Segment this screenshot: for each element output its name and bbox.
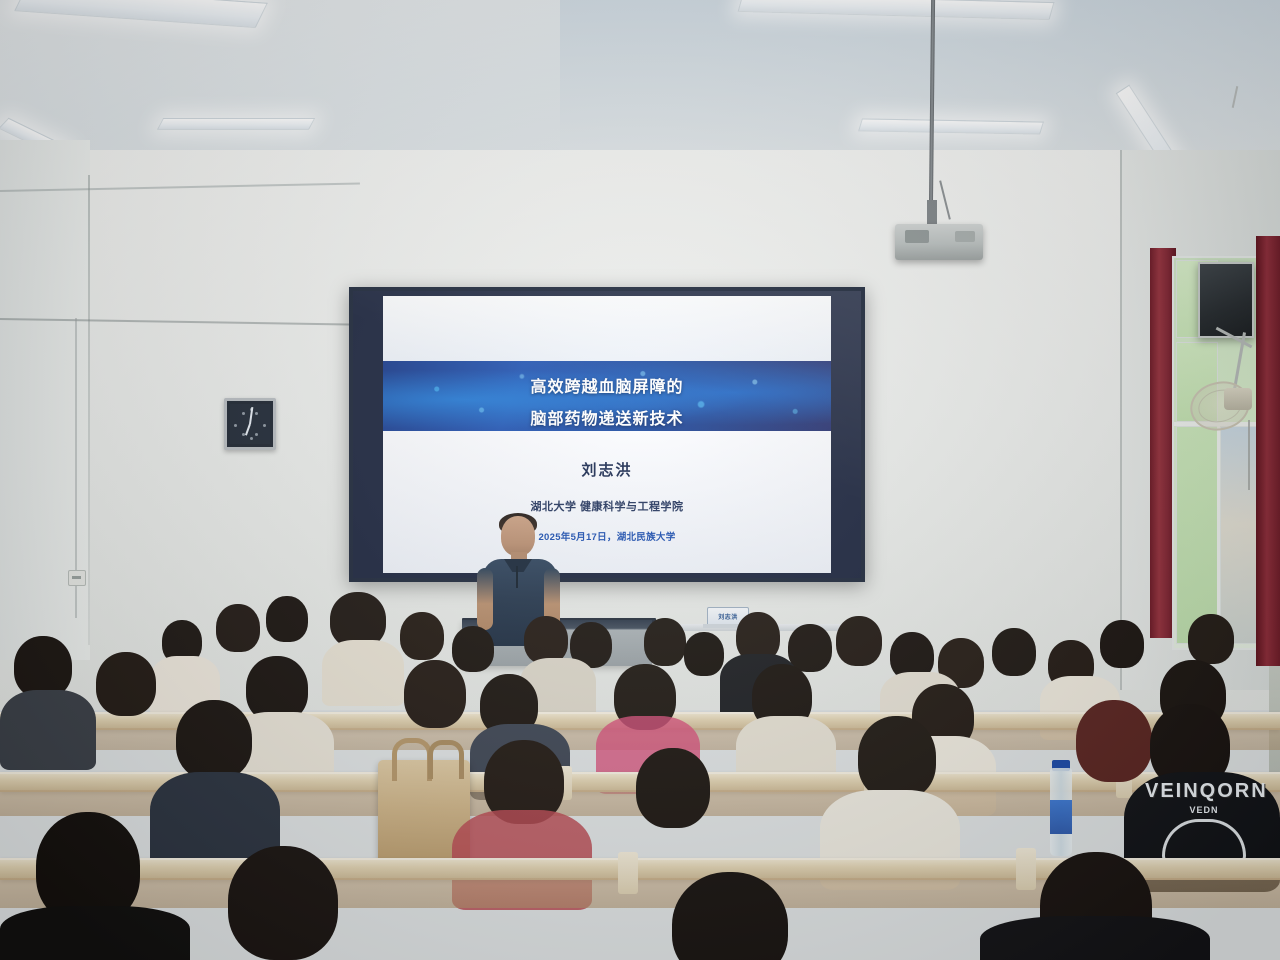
wall-corner-edge [88,175,90,645]
audience-head [992,628,1036,676]
audience-head [404,660,466,728]
audience-torso [980,916,1210,960]
wall-outlet[interactable] [68,570,86,586]
audience-head [400,612,444,660]
nameplate-text: 刘志洪 [718,612,738,621]
slide-title-band: 高效跨越血脑屏障的 脑部药物递送新技术 [383,361,831,431]
wall-clock-icon [224,398,276,450]
audience-head [228,846,338,960]
slide-title-line-2: 脑部药物递送新技术 [383,397,831,429]
bench-armrest [618,852,638,894]
audience-head [858,716,936,800]
screen-inner: 高效跨越血脑屏障的 脑部药物递送新技术 刘志洪 湖北大学 健康科学与工程学院 2… [353,291,861,578]
wall-speaker-icon [1198,262,1254,338]
fan-cord [1248,420,1250,490]
slide-top-band [383,296,831,361]
audience-head [96,652,156,716]
audience-torso [0,906,190,960]
audience-head [216,604,260,652]
window-pane [1176,426,1218,644]
window-mullion [1217,424,1220,644]
slide: 高效跨越血脑屏障的 脑部药物递送新技术 刘志洪 湖北大学 健康科学与工程学院 2… [383,296,831,573]
fan-motor [1224,388,1252,410]
audience-head [176,700,252,780]
audience-head [266,596,308,642]
clock-dial [230,404,270,444]
audience-torso [0,690,96,770]
audience-head [644,618,686,666]
audience-head [684,632,724,676]
audience-torso [322,640,404,706]
audience-head [636,748,710,828]
wall-fan-icon [1190,382,1256,426]
presentation-screen[interactable]: 高效跨越血脑屏障的 脑部药物递送新技术 刘志洪 湖北大学 健康科学与工程学院 2… [349,287,865,582]
audience-head [788,624,832,672]
audience-head [14,636,72,698]
audience-head [836,616,882,666]
audience-head [1188,614,1234,664]
presenter-head [501,516,535,556]
slide-speaker-name: 刘志洪 [383,431,831,480]
clock-hour-hand [245,424,251,436]
audience-head [1100,620,1144,668]
presenter-arm [477,568,493,630]
audience-head [524,616,568,664]
lecture-hall-scene: 高效跨越血脑屏障的 脑部药物递送新技术 刘志洪 湖北大学 健康科学与工程学院 2… [0,0,1280,960]
slide-body: 刘志洪 湖北大学 健康科学与工程学院 2025年5月17日，湖北民族大学 [383,431,831,573]
slide-date-venue: 2025年5月17日，湖北民族大学 [383,514,831,543]
presenter-placket [516,566,518,588]
audience-head [452,626,494,672]
ceiling-light-fixture [157,118,315,130]
audience-head [1076,700,1152,782]
bottle-label [1050,800,1072,834]
jacket-subtext: VEDN [1145,805,1263,815]
slide-title-line-1: 高效跨越血脑屏障的 [383,361,831,397]
slide-affiliation: 湖北大学 健康科学与工程学院 [383,480,831,514]
jacket-text: VEINQORN [1145,780,1263,803]
projector-icon [895,224,983,260]
bench-armrest [1016,848,1036,890]
wall-corner-edge [1120,150,1122,690]
curtain [1256,236,1280,666]
